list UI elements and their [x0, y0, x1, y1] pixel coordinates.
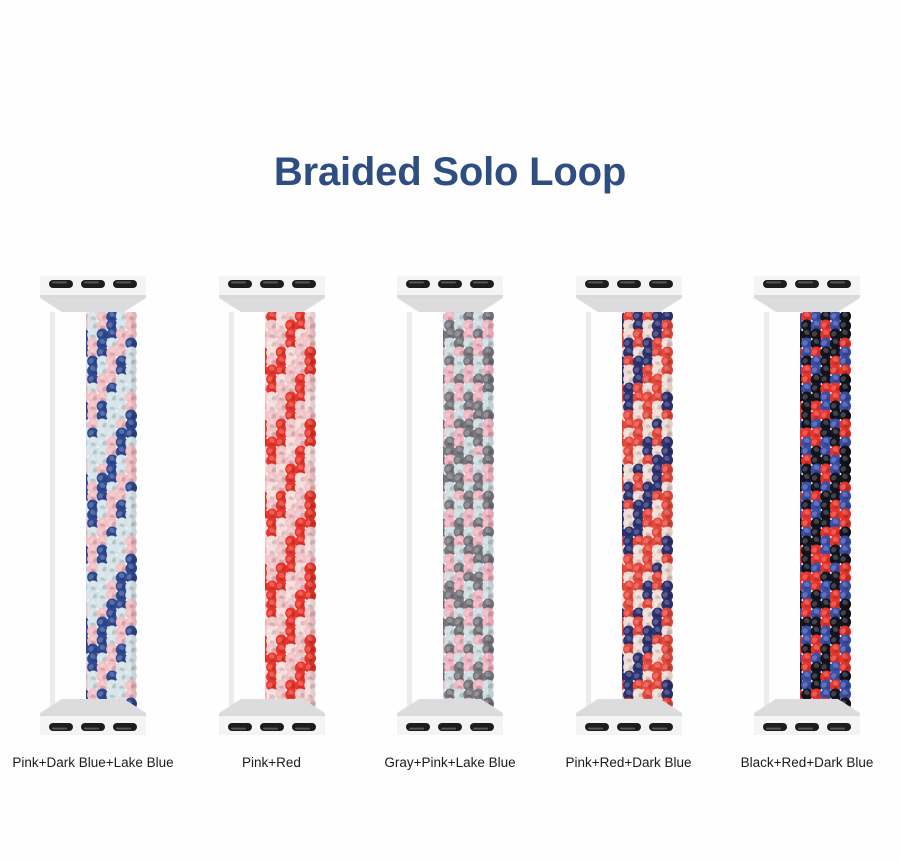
- product-row: Pink+Dark Blue+Lake BluePink+RedGray+Pin…: [0, 268, 900, 788]
- product-pink-red[interactable]: Pink+Red: [193, 268, 351, 788]
- product-caption: Pink+Red+Dark Blue: [565, 755, 691, 770]
- braided-band-pink-red[interactable]: [193, 268, 351, 743]
- product-caption: Gray+Pink+Lake Blue: [384, 755, 515, 770]
- braided-band-pink-red-dark-blue[interactable]: [550, 268, 708, 743]
- product-caption: Pink+Red: [242, 755, 301, 770]
- product-pink-red-dark-blue[interactable]: Pink+Red+Dark Blue: [550, 268, 708, 788]
- product-caption: Black+Red+Dark Blue: [741, 755, 874, 770]
- braided-band-pink-dark-blue-lake-blue[interactable]: [14, 268, 172, 743]
- page-title: Braided Solo Loop: [0, 150, 900, 195]
- product-pink-dark-blue-lake-blue[interactable]: Pink+Dark Blue+Lake Blue: [14, 268, 172, 788]
- product-caption: Pink+Dark Blue+Lake Blue: [12, 755, 173, 770]
- product-black-red-dark-blue[interactable]: Black+Red+Dark Blue: [728, 268, 886, 788]
- product-showcase-page: Braided Solo Loop Pink+Dark Blue+Lake Bl…: [0, 0, 900, 862]
- braided-band-black-red-dark-blue[interactable]: [728, 268, 886, 743]
- braided-band-gray-pink-lake-blue[interactable]: [371, 268, 529, 743]
- product-gray-pink-lake-blue[interactable]: Gray+Pink+Lake Blue: [371, 268, 529, 788]
